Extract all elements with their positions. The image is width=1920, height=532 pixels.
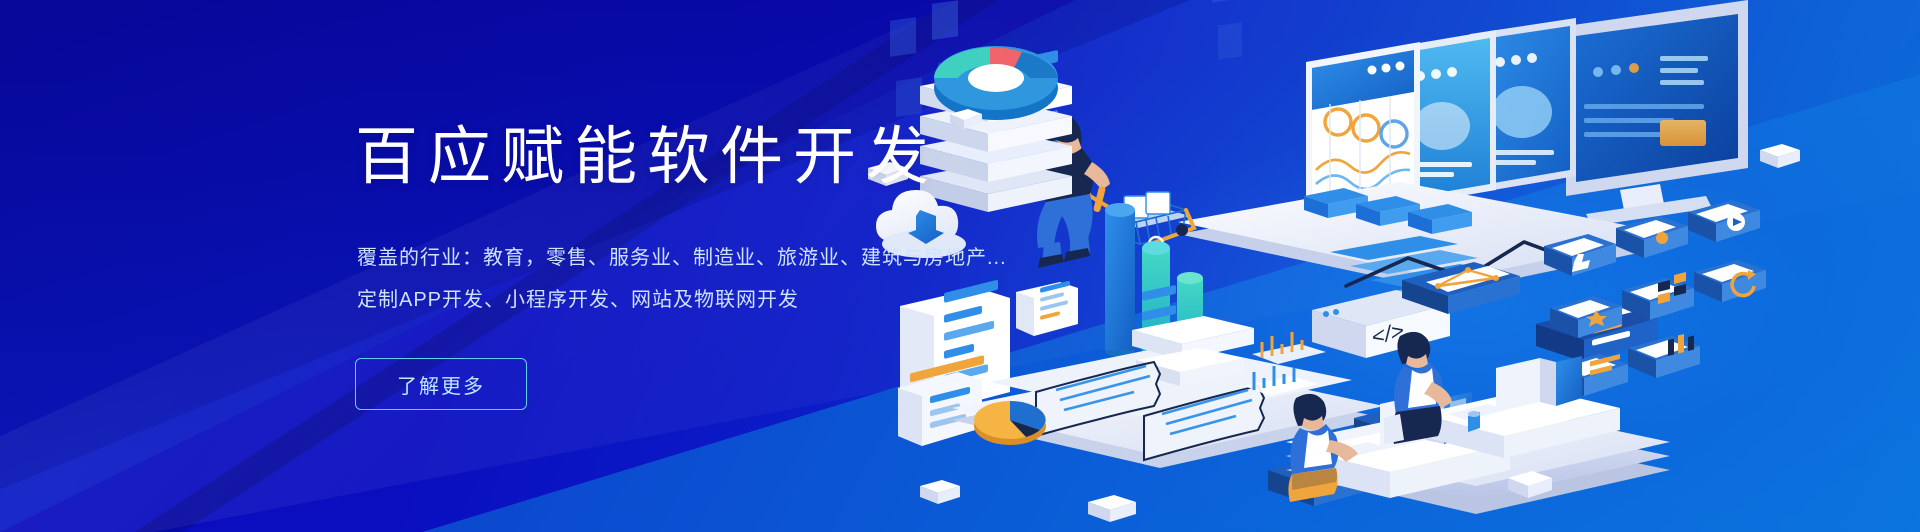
hero-banner: </> — [0, 0, 1920, 532]
monitor-icon — [1566, 0, 1748, 226]
subtitle-services: 定制APP开发、小程序开发、网站及物联网开发 — [357, 285, 799, 316]
floating-squares-decor-right — [1212, 0, 1276, 60]
app-icon-refresh — [1694, 260, 1766, 302]
hero-content: 百应赋能软件开发 覆盖的行业：教育，零售、服务业、制造业、旅游业、建筑与房地产.… — [355, 0, 1115, 532]
page-title: 百应赋能软件开发 — [355, 126, 939, 189]
learn-more-button[interactable]: 了解更多 — [355, 358, 527, 410]
subtitle-industries: 覆盖的行业：教育，零售、服务业、制造业、旅游业、建筑与房地产... — [357, 243, 1007, 274]
floating-cube-icon-5 — [1760, 144, 1800, 168]
